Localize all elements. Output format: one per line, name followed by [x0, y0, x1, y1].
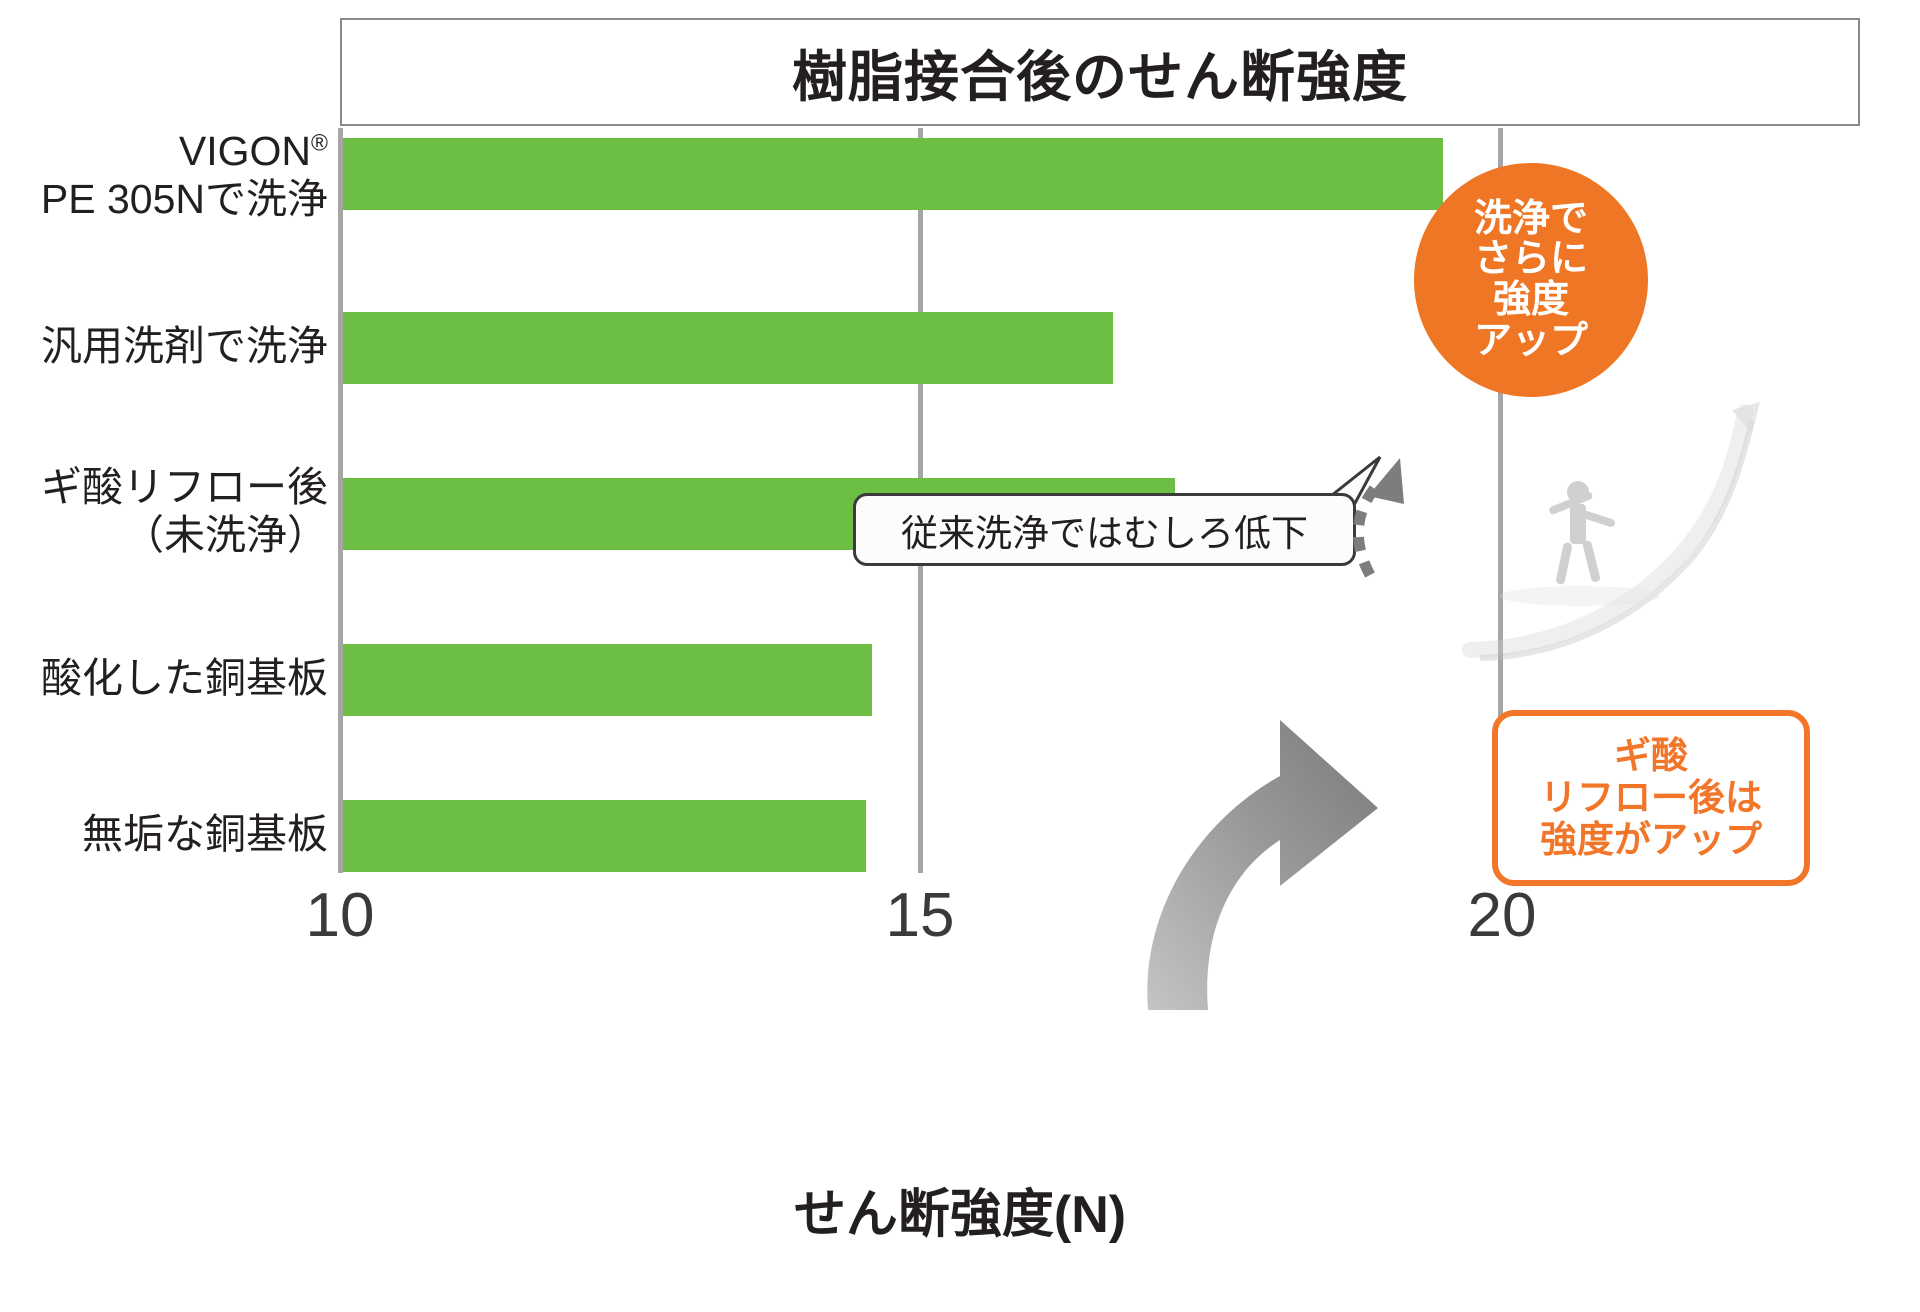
- callout-circle-cleaning-boost: 洗浄で さらに 強度 アップ: [1414, 163, 1648, 397]
- y-label-text-2b: （未洗浄）: [41, 511, 328, 559]
- callout-bubble-conventional-cleaning: 従来洗浄ではむしろ低下: [853, 493, 1356, 566]
- dotted-arrow-icon: [1330, 450, 1450, 580]
- chart-title-box: 樹脂接合後のせん断強度: [340, 18, 1860, 126]
- y-label-general-detergent: 汎用洗剤で洗浄: [41, 322, 328, 370]
- bar-oxidized-copper: [343, 644, 872, 716]
- callout-bubble-text: 従来洗浄ではむしろ低下: [901, 503, 1308, 557]
- bar-bare-copper: [343, 800, 866, 872]
- y-label-text-4: 無垢な銅基板: [82, 810, 328, 858]
- grey-curved-arrow-icon: [1130, 680, 1490, 1020]
- x-axis-title: せん断強度(N): [0, 1172, 1920, 1247]
- callout-box-line2: リフロー後は: [1540, 777, 1762, 819]
- y-label-vigon-pe-305n: VIGON® PE 305Nで洗浄: [41, 127, 328, 224]
- callout-circle-line1: 洗浄で: [1474, 199, 1588, 240]
- y-label-text-0b: PE 305Nで洗浄: [41, 175, 328, 223]
- callout-circle-line2: さらに: [1474, 239, 1588, 280]
- climber-illustration: [1460, 400, 1800, 680]
- bar-vigon-pe-305n: [343, 138, 1443, 210]
- registered-trademark-icon: ®: [311, 129, 328, 155]
- y-label-oxidized-copper: 酸化した銅基板: [41, 654, 328, 702]
- chart-title: 樹脂接合後のせん断強度: [792, 32, 1408, 112]
- bar-general-detergent: [343, 312, 1113, 384]
- y-label-text-3: 酸化した銅基板: [41, 654, 328, 702]
- y-label-formic-acid-reflow: ギ酸リフロー後 （未洗浄）: [41, 463, 328, 560]
- y-label-text-2a: ギ酸リフロー後: [41, 463, 328, 511]
- callout-circle-line3: 強度: [1493, 280, 1569, 321]
- y-label-text-1: 汎用洗剤で洗浄: [41, 322, 328, 370]
- callout-box-line3: 強度がアップ: [1540, 819, 1762, 861]
- callout-circle-line4: アップ: [1474, 321, 1588, 362]
- callout-box-formic-acid: ギ酸 リフロー後は 強度がアップ: [1492, 710, 1810, 886]
- y-label-text-0a: VIGON: [179, 128, 311, 174]
- chart-canvas: 樹脂接合後のせん断強度 VIGON® PE 305Nで洗浄 汎用洗剤で洗浄 ギ酸…: [0, 0, 1920, 1312]
- y-label-bare-copper: 無垢な銅基板: [82, 810, 328, 858]
- x-tick-15: 15: [886, 880, 955, 951]
- callout-box-line1: ギ酸: [1614, 735, 1688, 777]
- x-tick-10: 10: [306, 880, 375, 951]
